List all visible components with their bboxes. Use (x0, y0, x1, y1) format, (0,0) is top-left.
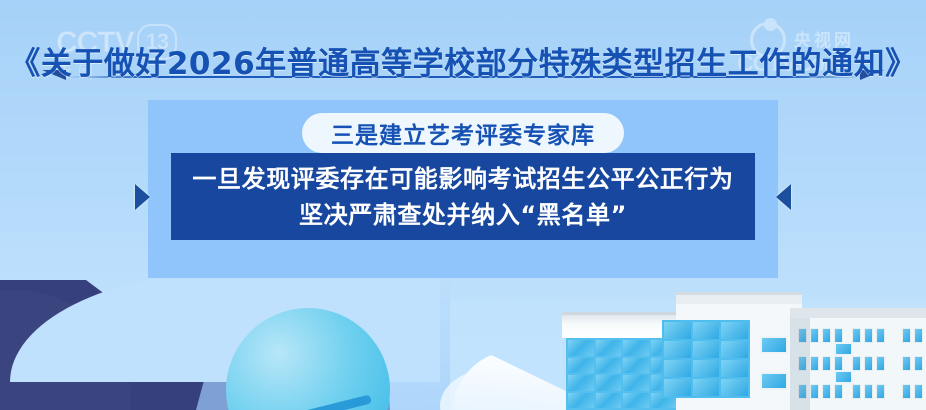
triangle-right-icon[interactable] (135, 184, 150, 210)
badge-label: 三是建立艺考评委专家库 (331, 116, 595, 150)
wide-office-building (790, 308, 926, 410)
page-title: 《关于做好2026年普通高等学校部分特殊类型招生工作的通知》 (0, 38, 926, 83)
building-window (834, 370, 853, 384)
corner-tower-building (676, 292, 802, 410)
tower-roof (676, 292, 802, 304)
wide-building-roof (790, 308, 926, 318)
callout-box: 一旦发现评委存在可能影响考试招生公平公正行为 坚决严肃查处并纳入“黑名单” (171, 153, 755, 240)
callout-line: 一旦发现评委存在可能影响考试招生公平公正行为 (192, 162, 733, 196)
status-badge: 三是建立艺考评委专家库 (302, 113, 624, 153)
building-floor-row (790, 356, 926, 376)
bottom-illustration-scene (0, 280, 926, 410)
building-window (834, 342, 853, 356)
building-floor-row (790, 328, 926, 348)
tower-window-grid (662, 320, 750, 398)
triangle-left-icon[interactable] (776, 184, 791, 210)
building-shadow (790, 318, 810, 410)
callout-line: 坚决严肃查处并纳入“黑名单” (299, 198, 627, 232)
tower-window (760, 336, 788, 354)
tower-window (760, 372, 788, 390)
broadcast-graphic-stage: CCTV13 新闻 央视网 CCTV.com 《关于做好2026年普通高等学校部… (0, 0, 926, 410)
building-floor-row (790, 384, 926, 404)
content-card: 三是建立艺考评委专家库 一旦发现评委存在可能影响考试招生公平公正行为 坚决严肃查… (148, 100, 778, 278)
